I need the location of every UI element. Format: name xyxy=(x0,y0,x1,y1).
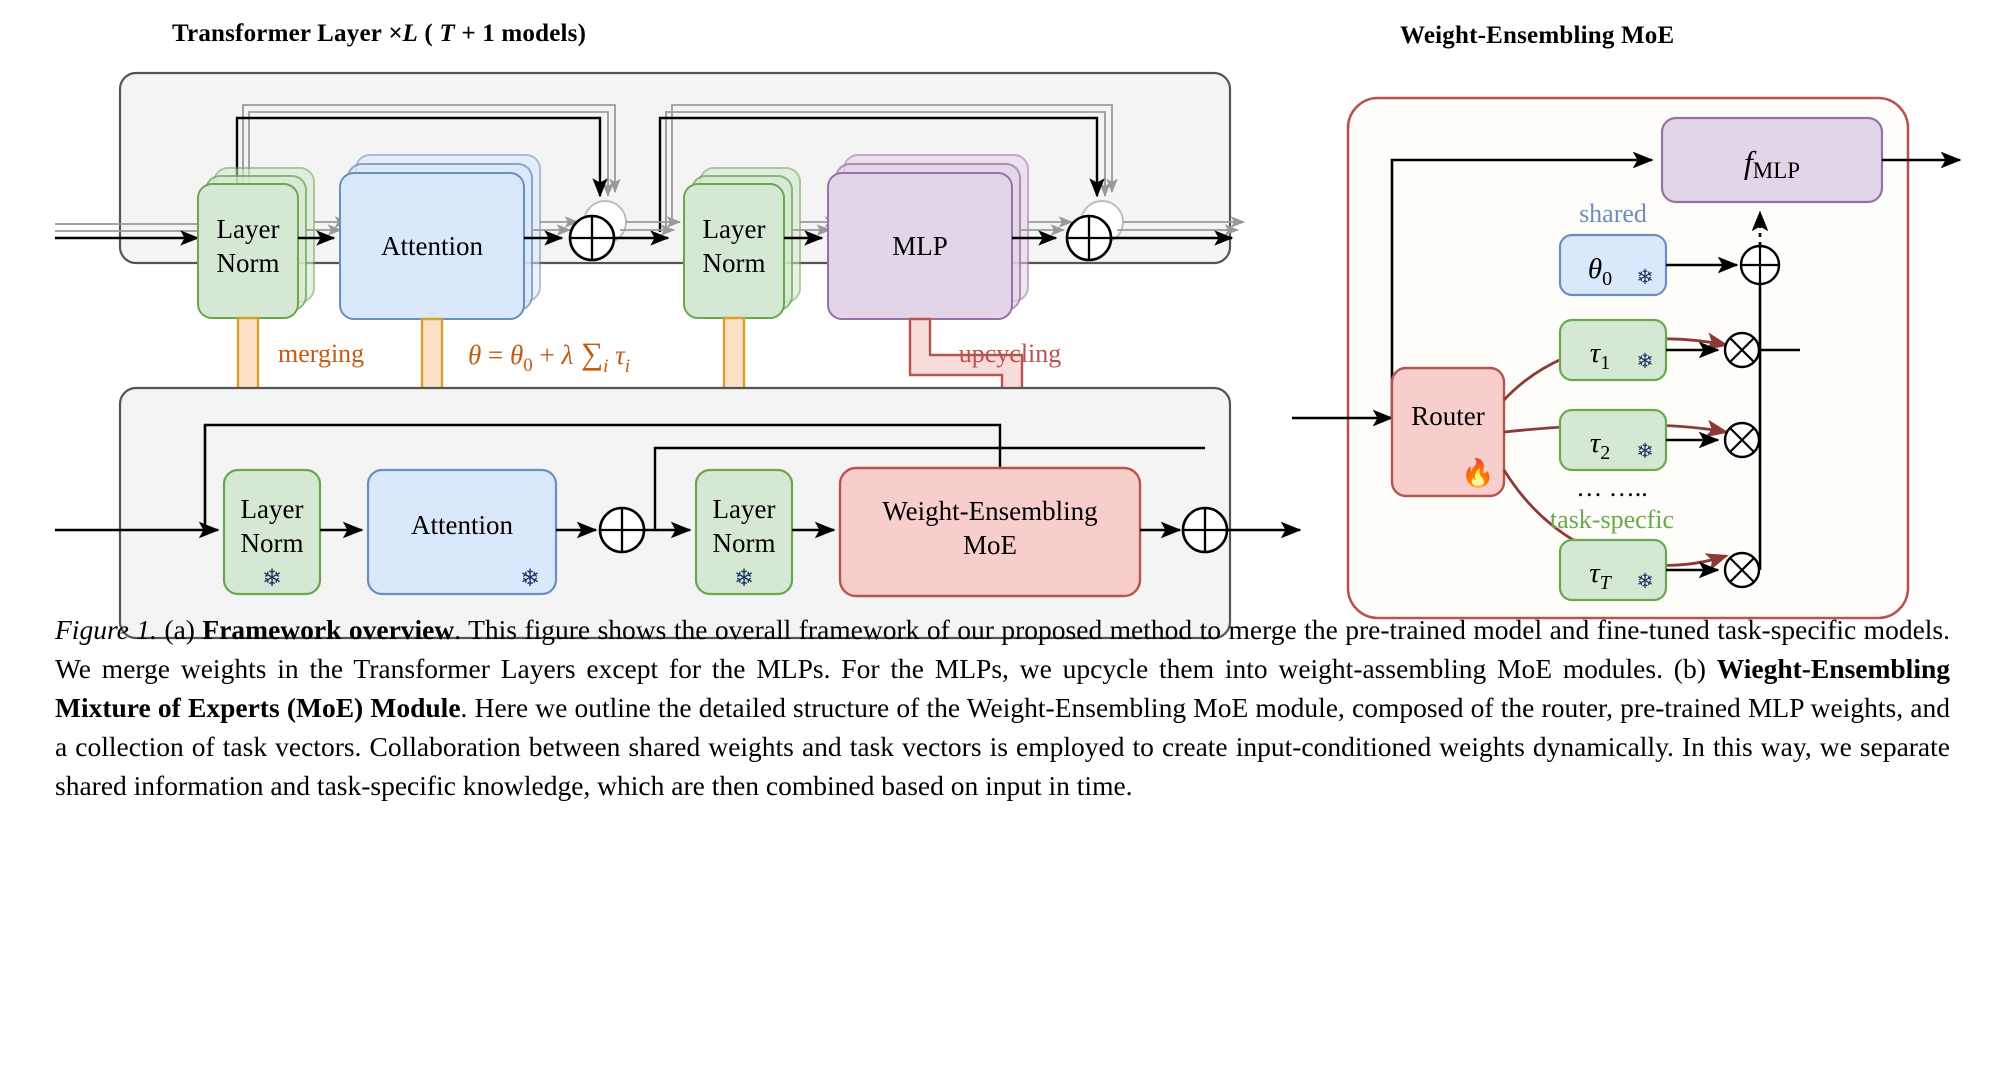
expert-block-tau-2: τ2 ❄ xyxy=(1560,410,1666,470)
router-label: Router xyxy=(1411,401,1485,431)
merging-label: merging xyxy=(278,339,364,368)
block-label: Attention xyxy=(381,231,483,261)
bottom-adder-1 xyxy=(600,508,644,552)
top-block-layer-norm-2: Layer Norm xyxy=(684,168,800,318)
flame-icon: 🔥 xyxy=(1461,457,1495,488)
multiply-node-1 xyxy=(1725,333,1759,367)
block-label: Layer xyxy=(241,494,304,524)
bottom-block-layer-norm-2: Layer Norm ❄ xyxy=(696,470,792,594)
block-label: Norm xyxy=(703,248,766,278)
caption-prefix-a: (a) xyxy=(164,614,202,645)
diagram-canvas: Layer Norm Attention xyxy=(0,0,2000,600)
top-block-mlp: MLP xyxy=(828,155,1028,319)
figure-1: Transformer Layer ×L ( T + 1 models) Mer… xyxy=(0,0,2000,1074)
multiply-node-3 xyxy=(1725,553,1759,587)
block-label: Norm xyxy=(217,248,280,278)
caption-bold-a: Framework overview xyxy=(202,614,454,645)
snowflake-icon: ❄ xyxy=(734,566,754,592)
block-label: MoE xyxy=(963,530,1017,560)
snowflake-icon: ❄ xyxy=(1636,569,1654,593)
multiply-node-2 xyxy=(1725,423,1759,457)
snowflake-icon: ❄ xyxy=(1636,265,1654,289)
upcycling-label: upcycling xyxy=(959,339,1062,368)
block-label: Norm xyxy=(713,528,776,558)
top-block-attention: Attention xyxy=(340,155,540,319)
bottom-block-attention: Attention ❄ xyxy=(368,470,556,594)
bottom-block-layer-norm-1: Layer Norm ❄ xyxy=(224,470,320,594)
block-label: Layer xyxy=(217,214,280,244)
expert-block-tau-1: τ1 ❄ xyxy=(1560,320,1666,380)
fmlp-block: fMLP xyxy=(1662,118,1882,202)
theta0-block: θ0 ❄ xyxy=(1560,235,1666,295)
snowflake-icon: ❄ xyxy=(262,566,282,592)
bottom-block-weight-ensembling-moe: Weight-Ensembling MoE xyxy=(840,468,1140,596)
bottom-adder-2 xyxy=(1183,508,1227,552)
panel-b-plus-node xyxy=(1741,246,1779,284)
task-specific-label: task-specfic xyxy=(1550,505,1674,534)
router-block: Router 🔥 xyxy=(1392,368,1504,496)
caption-figure-number: Figure 1. xyxy=(55,614,157,645)
snowflake-icon: ❄ xyxy=(1636,349,1654,373)
snowflake-icon: ❄ xyxy=(1636,439,1654,463)
figure-caption: Figure 1. (a) Framework overview. This f… xyxy=(55,610,1950,805)
top-block-layer-norm-1: Layer Norm xyxy=(198,168,314,318)
block-label: Attention xyxy=(411,510,513,540)
block-label: Layer xyxy=(703,214,766,244)
expert-block-tau-T: τT ❄ xyxy=(1560,540,1666,600)
block-label: Weight-Ensembling xyxy=(882,496,1097,526)
block-label: Layer xyxy=(713,494,776,524)
snowflake-icon: ❄ xyxy=(520,566,540,592)
merging-equation: θ = θ0 + λ ∑i τi xyxy=(468,336,630,377)
experts-ellipsis: … ….. xyxy=(1576,473,1648,502)
block-label: MLP xyxy=(892,231,948,261)
shared-label: shared xyxy=(1579,199,1647,228)
block-label: Norm xyxy=(241,528,304,558)
